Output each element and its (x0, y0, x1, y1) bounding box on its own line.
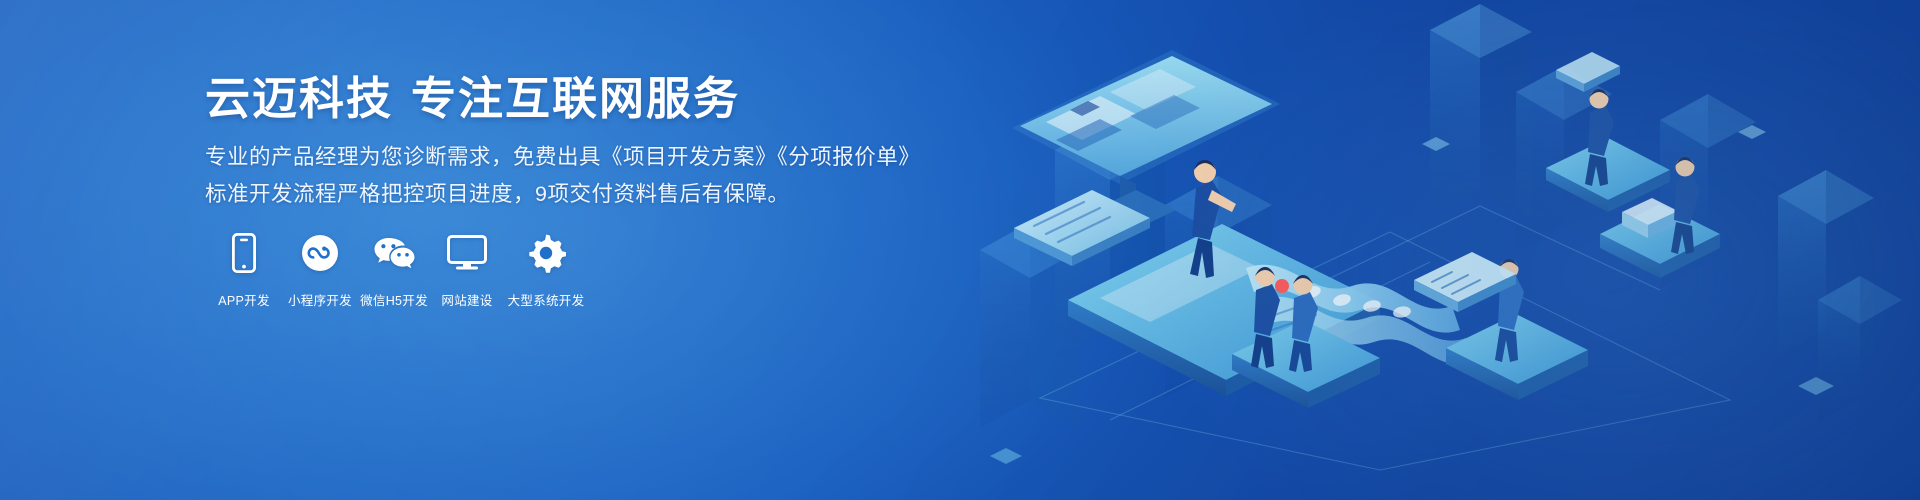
mini-program-icon (301, 232, 339, 274)
service-item-app[interactable]: APP开发 (205, 232, 283, 309)
service-item-enterprise-system[interactable]: 大型系统开发 (503, 232, 589, 309)
title-tagline: 专注互联网服务 (411, 73, 740, 124)
service-item-miniprogram[interactable]: 小程序开发 (283, 232, 357, 309)
service-label: 大型系统开发 (508, 290, 585, 309)
monitor-icon (447, 232, 487, 274)
service-label: APP开发 (218, 290, 270, 309)
subtitle-line-1: 专业的产品经理为您诊断需求，免费出具《项目开发方案》《分项报价单》 (205, 147, 920, 169)
wechat-icon (372, 232, 416, 274)
service-list: APP开发 小程序开发 (205, 232, 589, 309)
hero-banner: 云迈科技专注互联网服务 专业的产品经理为您诊断需求，免费出具《项目开发方案》《分… (0, 0, 1920, 500)
service-label: 小程序开发 (288, 290, 352, 309)
service-item-website[interactable]: 网站建设 (431, 232, 503, 309)
subtitle-line-2: 标准开发流程严格把控项目进度，9项交付资料售后有保障。 (205, 184, 789, 206)
service-label: 网站建设 (441, 290, 492, 309)
title-brand: 云迈科技 (205, 73, 393, 124)
gear-icon (526, 232, 566, 274)
service-item-wechat-h5[interactable]: 微信H5开发 (357, 232, 431, 309)
hero-illustration (960, 0, 1920, 500)
page-title: 云迈科技专注互联网服务 (205, 76, 740, 121)
service-label: 微信H5开发 (360, 290, 428, 309)
mobile-phone-icon (232, 232, 256, 274)
